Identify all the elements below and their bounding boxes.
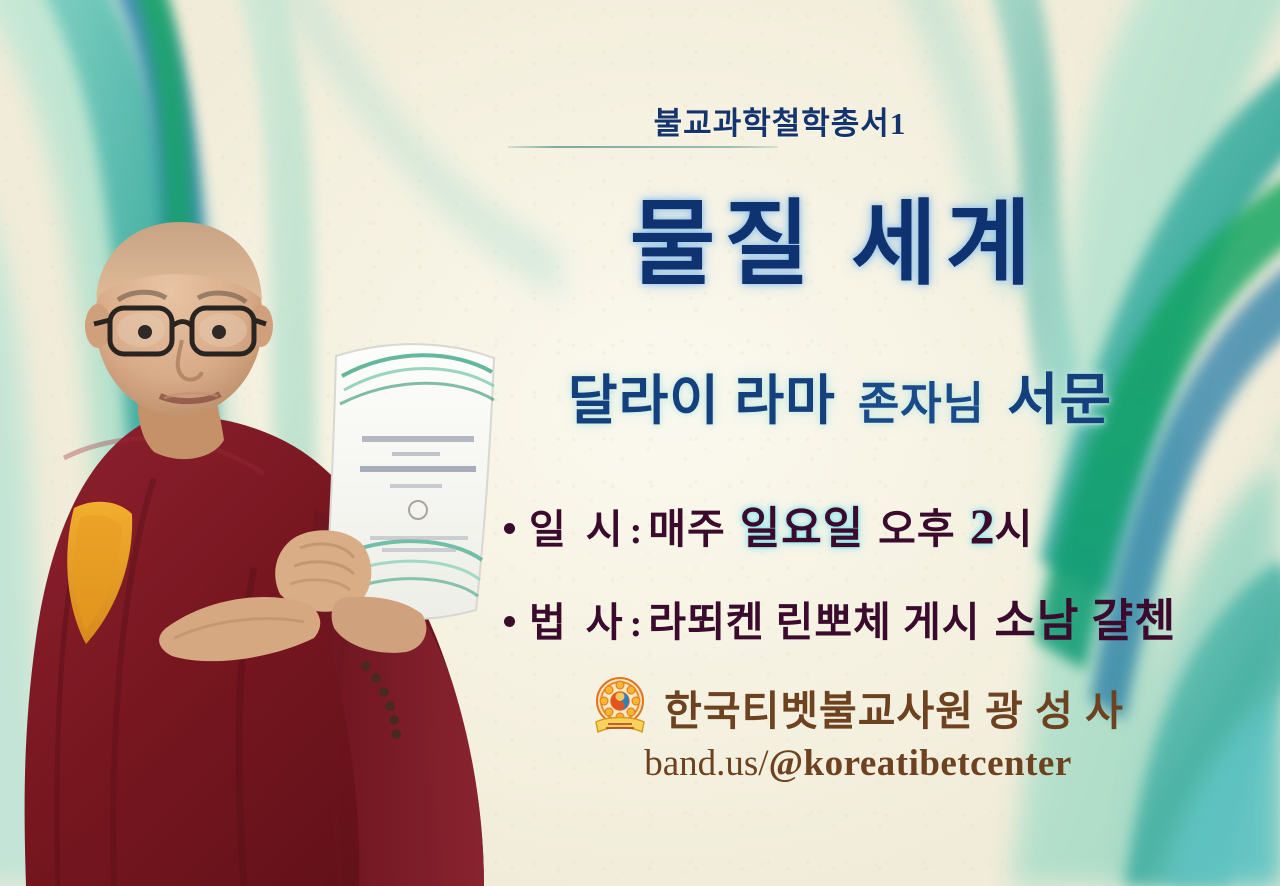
schedule-ampm: 오후: [878, 495, 955, 555]
poster-footer: 한국티벳불교사원 광 성 사 band.us/@koreatibetcenter: [528, 676, 1188, 785]
band-url-prefix: band.us/: [644, 743, 768, 784]
bullet-dot-icon: [504, 523, 515, 534]
bullet-dot-icon-2: [504, 616, 515, 627]
series-label: 불교과학철학총서1: [470, 98, 1090, 143]
schedule-day: 일요일: [740, 492, 864, 556]
poster-canvas: 불교과학철학총서1 물질 세계 달라이 라마 존자님 서문 일 시 : 매주 일…: [0, 0, 1280, 886]
schedule-label: 일 시: [529, 497, 628, 555]
organization-line: 한국티벳불교사원 광 성 사: [528, 676, 1188, 738]
subtitle-part-2: 존자님: [858, 379, 985, 429]
schedule-hour: 2: [970, 497, 995, 555]
detail-row-teacher: 법 사 : 라뙤켄 린뽀체 게시 소남 걀첸: [504, 584, 1264, 649]
subtitle-part-3: 서문: [1007, 370, 1112, 432]
subtitle-part-1: 달라이 라마: [568, 371, 836, 431]
teacher-name: 소남 걀첸: [995, 584, 1177, 649]
page-subtitle: 달라이 라마 존자님 서문: [470, 355, 1210, 436]
band-link[interactable]: band.us/@koreatibetcenter: [528, 742, 1188, 785]
dharma-wheel-emblem-icon: [592, 676, 648, 738]
detail-list: 일 시 : 매주 일요일 오후 2 시 법 사 : 라뙤켄 린뽀체 게시 소남 …: [504, 492, 1264, 677]
poster-content: 불교과학철학총서1 물질 세계 달라이 라마 존자님 서문 일 시 : 매주 일…: [470, 0, 1280, 886]
schedule-hour-unit: 시: [995, 495, 1034, 555]
teacher-title: 라뙤켄 린뽀체 게시: [648, 588, 980, 648]
band-handle: @koreatibetcenter: [769, 743, 1072, 784]
schedule-colon: :: [630, 509, 643, 553]
schedule-frequency: 매주: [648, 495, 725, 555]
teacher-colon: :: [630, 602, 643, 646]
series-divider: [508, 146, 778, 148]
teacher-label: 법 사: [529, 590, 628, 648]
organization-name: 한국티벳불교사원 광 성 사: [664, 677, 1124, 737]
page-title: 물질 세계: [470, 198, 1200, 295]
detail-row-schedule: 일 시 : 매주 일요일 오후 2 시: [504, 492, 1264, 556]
